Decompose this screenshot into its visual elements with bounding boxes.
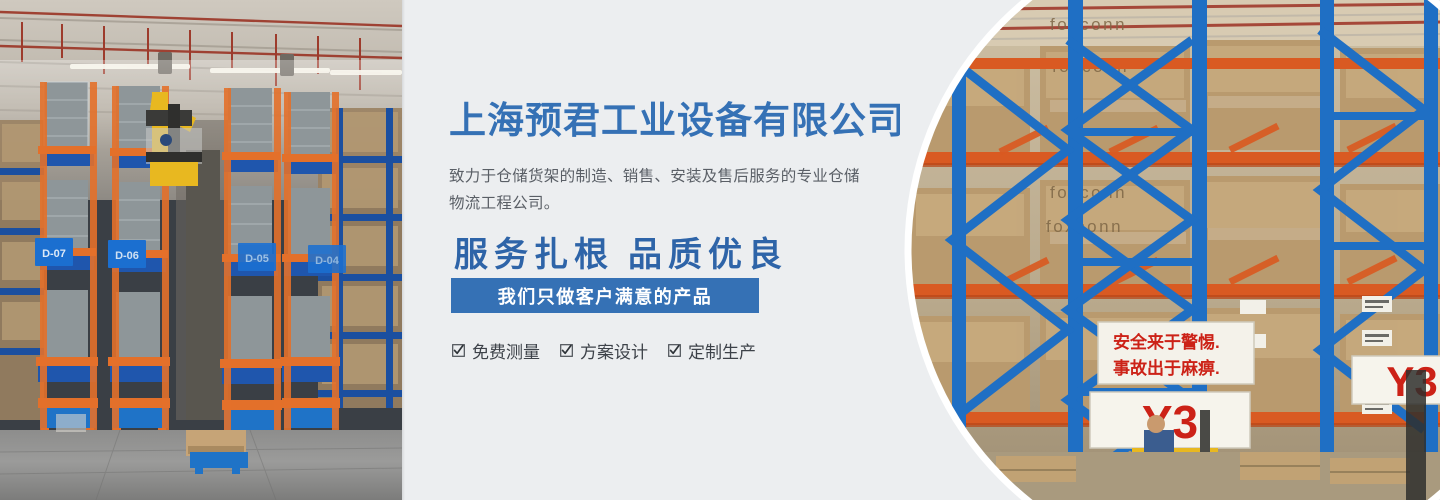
safety-sign-line1: 安全来于警惕. [1113,332,1220,352]
right-photo-illustration: foxconn foxconn foxconn foxconn [900,0,1440,500]
checkbox-check-icon [560,344,573,357]
slogan-right: 品质优良 [628,236,788,274]
right-warehouse-photo: foxconn foxconn foxconn foxconn [900,0,1440,500]
safety-sign-line2: 事故出于麻痹. [1113,358,1220,378]
slogan: 服务扎根品质优良 [454,227,788,276]
hero-banner: D-07 D-06 D-05 D-04 [0,0,1440,500]
feature-label: 方案设计 [580,338,648,363]
aisle-label-sign-edge: Y3 [1352,356,1440,405]
checkbox-check-icon [452,344,465,357]
feature-item-custom-production: 定制生产 [668,338,756,363]
hero-text-panel: 上海预君工业设备有限公司 致力于仓储货架的制造、销售、安装及售后服务的专业仓储物… [402,0,940,500]
left-warehouse-photo: D-07 D-06 D-05 D-04 [0,0,402,500]
company-subtitle: 致力于仓储货架的制造、销售、安装及售后服务的专业仓储物流工程公司。 [449,163,869,217]
feature-item-scheme-design: 方案设计 [560,338,648,363]
svg-text:D-04: D-04 [315,255,340,267]
slogan-left: 服务扎根 [454,236,614,274]
svg-text:D-06: D-06 [115,250,139,262]
company-title: 上海预君工业设备有限公司 [449,100,905,143]
feature-list: 免费测量 方案设计 定制生产 [452,338,756,363]
safety-sign: 安全来于警惕. 事故出于麻痹. [1098,322,1254,384]
feature-label: 定制生产 [688,338,756,363]
feature-label: 免费测量 [472,338,540,363]
feature-item-free-measurement: 免费测量 [452,338,540,363]
carton-brand-text: foxconn [1050,15,1127,34]
svg-text:D-07: D-07 [42,248,66,260]
checkbox-check-icon [668,344,681,357]
cta-button[interactable]: 我们只做客户满意的产品 [451,278,759,313]
svg-text:D-05: D-05 [245,253,269,265]
left-photo-illustration: D-07 D-06 D-05 D-04 [0,0,402,500]
